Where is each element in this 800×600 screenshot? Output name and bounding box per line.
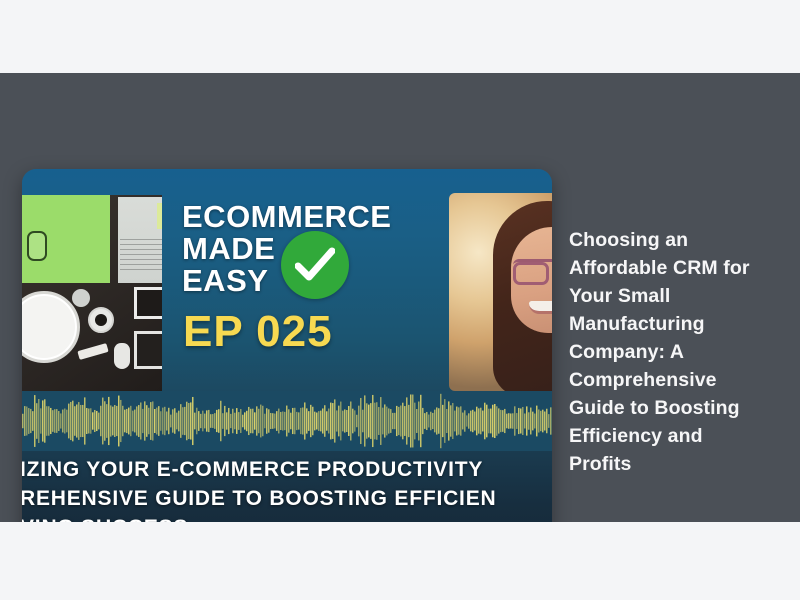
- page-top-band: [0, 0, 800, 73]
- overlay-line-1: IZING YOUR E-COMMERCE PRODUCTIVITY: [22, 455, 552, 484]
- coffee-cup-shape: [88, 307, 114, 333]
- sticky-note-shape: [157, 203, 162, 229]
- open-book-shape: [120, 239, 162, 271]
- host-glasses-shape: [513, 259, 552, 277]
- clock-hand-minute: [39, 326, 51, 342]
- episode-content-band: ECOMMERCE MADE EASY EP 025: [0, 73, 800, 522]
- small-dish-shape: [72, 289, 90, 307]
- clock-hand-hour: [22, 327, 41, 341]
- episode-title: Choosing an Affordable CRM for Your Smal…: [569, 226, 769, 478]
- episode-cover-card[interactable]: ECOMMERCE MADE EASY EP 025: [22, 169, 552, 578]
- overlay-line-2: REHENSIVE GUIDE TO BOOSTING EFFICIEN: [22, 484, 552, 513]
- page-bottom-band: [0, 522, 800, 600]
- host-headshot-photo: [449, 193, 552, 391]
- desk-flatlay-photo: [22, 195, 162, 391]
- cover-art-top-section: ECOMMERCE MADE EASY EP 025: [22, 169, 552, 391]
- audio-waveform-graphic: [22, 391, 552, 451]
- green-check-circle-icon: [281, 231, 349, 299]
- host-smile-shape: [529, 301, 552, 314]
- mouse-shape: [114, 343, 130, 369]
- wordmark-line-1: ECOMMERCE: [182, 201, 432, 233]
- notebook-shape: [134, 331, 162, 369]
- episode-number-label: EP 025: [183, 309, 333, 355]
- tablet-shape: [134, 287, 162, 319]
- pen-shape: [77, 343, 108, 360]
